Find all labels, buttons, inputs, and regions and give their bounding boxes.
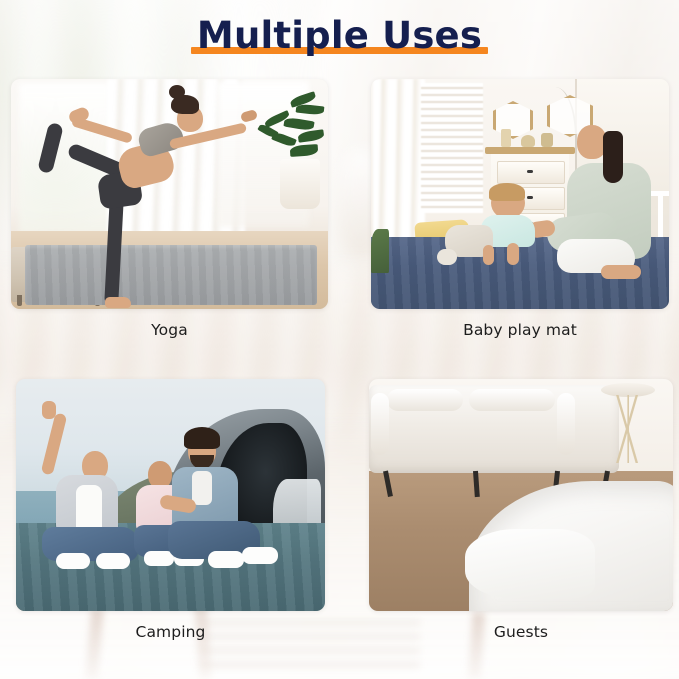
title-inner: Multiple Uses [191, 12, 488, 59]
baby-hair [489, 183, 525, 201]
decor-item [521, 135, 535, 147]
drawer-knob [527, 196, 533, 199]
sneaker [208, 551, 244, 568]
sofa-cushion [469, 389, 555, 411]
multiple-uses-infographic: Multiple Uses [0, 0, 679, 679]
caption-camping: Camping [16, 623, 325, 641]
scene-coastal-campsite [16, 379, 325, 611]
scene-living-room [11, 79, 328, 309]
sneaker [242, 547, 278, 564]
decor-item [501, 129, 511, 147]
sofa-cushion [387, 389, 463, 411]
baby-foot [437, 249, 457, 265]
decor-item [541, 133, 553, 147]
sneaker [96, 553, 130, 569]
mother-arm-raised [41, 412, 68, 475]
use-case-grid: Yoga [0, 0, 679, 679]
father-hair [184, 427, 220, 449]
drawer-knob [527, 170, 533, 173]
arm-back [71, 116, 133, 144]
father-tshirt [192, 471, 212, 505]
curtain [373, 79, 425, 247]
window-blind [421, 83, 483, 213]
sneaker [56, 553, 90, 569]
leg-standing [104, 197, 124, 306]
sneaker [144, 551, 174, 566]
dresser-top [485, 147, 575, 154]
caption-guests: Guests [369, 623, 673, 641]
banner-title-area: Multiple Uses [0, 12, 679, 59]
person-yoga [11, 79, 328, 309]
mother-hair-strand [603, 131, 623, 183]
side-table-legs [607, 395, 649, 463]
page-title: Multiple Uses [197, 12, 482, 59]
photo-guests [369, 379, 673, 611]
sofa-arm [557, 393, 575, 455]
baby-arm [507, 243, 519, 265]
baby-arm [483, 245, 494, 265]
hand-front [240, 109, 258, 123]
caption-baby-play-mat: Baby play mat [371, 321, 669, 339]
scene-living-room-sleeping [369, 379, 673, 611]
caption-yoga: Yoga [11, 321, 328, 339]
photo-camping [16, 379, 325, 611]
mother-hand-pointing [42, 401, 56, 419]
bed-sheet [465, 529, 595, 599]
photo-yoga [11, 79, 328, 309]
leg-raised-lower [37, 122, 64, 174]
mother-foot [601, 265, 641, 279]
foot [105, 297, 131, 308]
plant [371, 229, 389, 273]
hexagon-shelf [493, 101, 533, 139]
scene-nursery [371, 79, 669, 309]
photo-baby-play-mat [371, 79, 669, 309]
hair-bun [169, 85, 185, 99]
sofa-arm [371, 393, 389, 455]
